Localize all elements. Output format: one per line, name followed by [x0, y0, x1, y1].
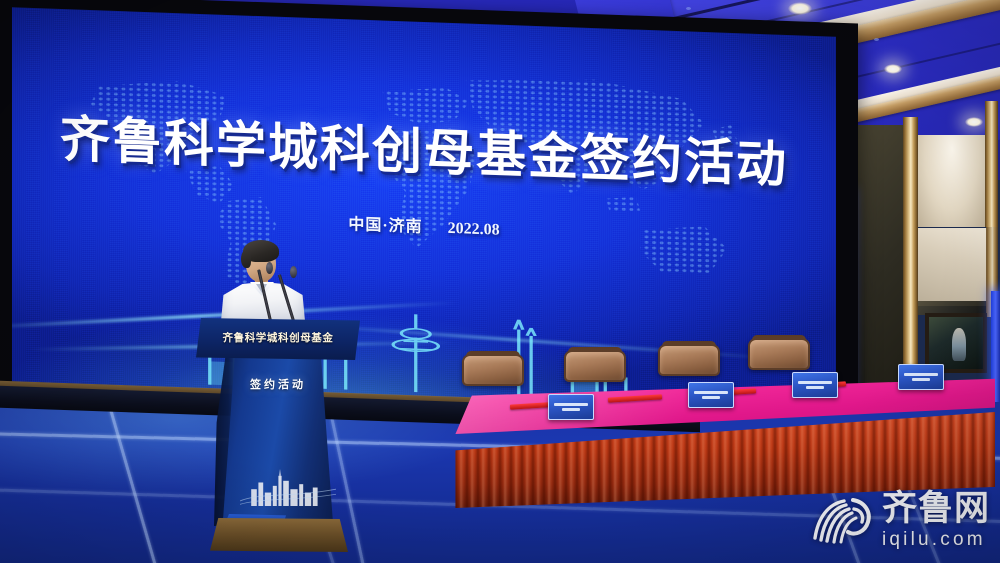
screen-date: 2022.08: [448, 220, 500, 239]
watermark-text: 齐鲁网 iqilu.com: [882, 491, 990, 549]
podium: 签约活动 齐鲁科学城科创母基金: [188, 318, 368, 558]
podium-base: [210, 518, 348, 552]
ceiling-sprinkler-icon: [686, 7, 691, 10]
podium-skyline-graphic: [240, 464, 336, 506]
podium-top-label: 齐鲁科学城科创母基金: [196, 330, 360, 345]
speaker-hair-side: [241, 250, 251, 268]
placard-text-line: [806, 386, 824, 389]
chair-back: [564, 350, 626, 382]
microphone-head-icon: [266, 262, 273, 274]
name-placard[interactable]: [792, 372, 838, 398]
watermark-brand-en: iqilu.com: [882, 530, 990, 549]
name-placard[interactable]: [688, 382, 734, 408]
placard-text-line: [554, 403, 587, 406]
placard-text-line: [562, 408, 580, 411]
wall-panel-upper: [917, 135, 987, 227]
chair-back: [748, 338, 810, 370]
channel-watermark: 齐鲁网 iqilu.com: [812, 491, 990, 549]
name-placard[interactable]: [548, 394, 594, 420]
placard-text-line: [694, 391, 727, 394]
placard-text-line: [798, 381, 831, 384]
swirl-wave-logo-icon: [812, 494, 874, 546]
downlight: [788, 2, 812, 15]
chair[interactable]: [462, 354, 524, 394]
chair[interactable]: [658, 344, 720, 384]
chair[interactable]: [564, 350, 626, 390]
wall-panel-lower: [917, 228, 987, 306]
watermark-brand-cn: 齐鲁网: [882, 491, 990, 526]
chair-back: [658, 344, 720, 376]
placard-text-line: [912, 378, 930, 381]
chair-back: [462, 354, 524, 386]
microphone-head-icon: [290, 266, 297, 278]
downlight: [884, 64, 902, 74]
placard-text-line: [702, 396, 720, 399]
screen-location: 中国·济南: [348, 216, 422, 236]
podium-front-label: 签约活动: [218, 376, 338, 392]
video-frame: 齐鲁科学城科创母基金签约活动 中国·济南 2022.08: [0, 0, 1000, 563]
name-placard[interactable]: [898, 364, 944, 390]
gold-column: [985, 101, 998, 227]
placard-text-line: [904, 373, 937, 376]
ceiling-sprinkler-icon: [874, 38, 879, 41]
